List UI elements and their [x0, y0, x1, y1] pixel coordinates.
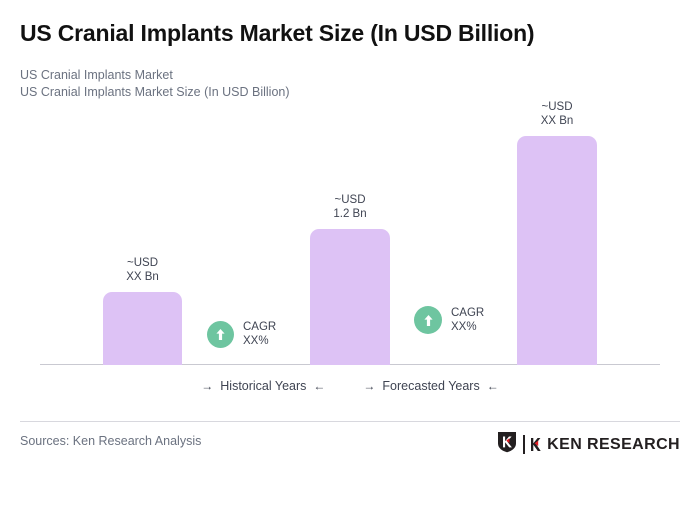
bar-chart: ~USD XX Bn ~USD 1.2 Bn ~USD XX Bn CAGR X…	[0, 0, 700, 370]
footer-divider	[20, 421, 680, 422]
arrow-right-icon: →	[363, 379, 375, 393]
bar-2	[310, 229, 390, 365]
period-forecasted: → Forecasted Years ←	[363, 379, 498, 393]
bar-2-value-line-2: 1.2 Bn	[310, 207, 390, 221]
cagr-annotation-1-line-1: CAGR	[243, 320, 276, 334]
bar-3-value-label: ~USD XX Bn	[517, 100, 597, 128]
bar-3-value-line-1: ~USD	[517, 100, 597, 114]
cagr-annotation-1-line-2: XX%	[243, 334, 276, 348]
bar-1	[103, 292, 182, 365]
cagr-annotation-1: CAGR XX%	[207, 320, 276, 348]
period-forecasted-label: Forecasted Years	[382, 379, 479, 393]
bar-2-value-line-1: ~USD	[310, 193, 390, 207]
sources-text: Sources: Ken Research Analysis	[20, 434, 201, 448]
arrow-up-icon	[207, 321, 234, 348]
bar-2-value-label: ~USD 1.2 Bn	[310, 193, 390, 221]
period-historical: → Historical Years ←	[201, 379, 325, 393]
logo-wordmark: KEN RESEARCH	[531, 436, 680, 454]
logo-divider	[523, 435, 525, 454]
cagr-annotation-2-line-2: XX%	[451, 320, 484, 334]
arrow-left-icon: ←	[487, 379, 499, 393]
bar-1-value-line-1: ~USD	[103, 256, 182, 270]
arrow-right-icon: →	[201, 379, 213, 393]
bar-1-value-line-2: XX Bn	[103, 270, 182, 284]
bar-3-value-line-2: XX Bn	[517, 114, 597, 128]
ken-research-logo: KEN RESEARCH	[497, 431, 680, 458]
chart-page: US Cranial Implants Market Size (In USD …	[0, 0, 700, 520]
bar-3	[517, 136, 597, 365]
cagr-annotation-1-text: CAGR XX%	[243, 320, 276, 348]
bar-1-value-label: ~USD XX Bn	[103, 256, 182, 284]
period-labels: → Historical Years ← → Forecasted Years …	[0, 379, 700, 393]
arrow-up-icon	[414, 306, 442, 334]
logo-text-label: KEN RESEARCH	[547, 436, 680, 454]
cagr-annotation-2: CAGR XX%	[414, 306, 484, 334]
arrow-left-icon: ←	[313, 379, 325, 393]
cagr-annotation-2-text: CAGR XX%	[451, 306, 484, 334]
ken-research-shield-icon	[497, 431, 517, 458]
cagr-annotation-2-line-1: CAGR	[451, 306, 484, 320]
period-historical-label: Historical Years	[220, 379, 306, 393]
